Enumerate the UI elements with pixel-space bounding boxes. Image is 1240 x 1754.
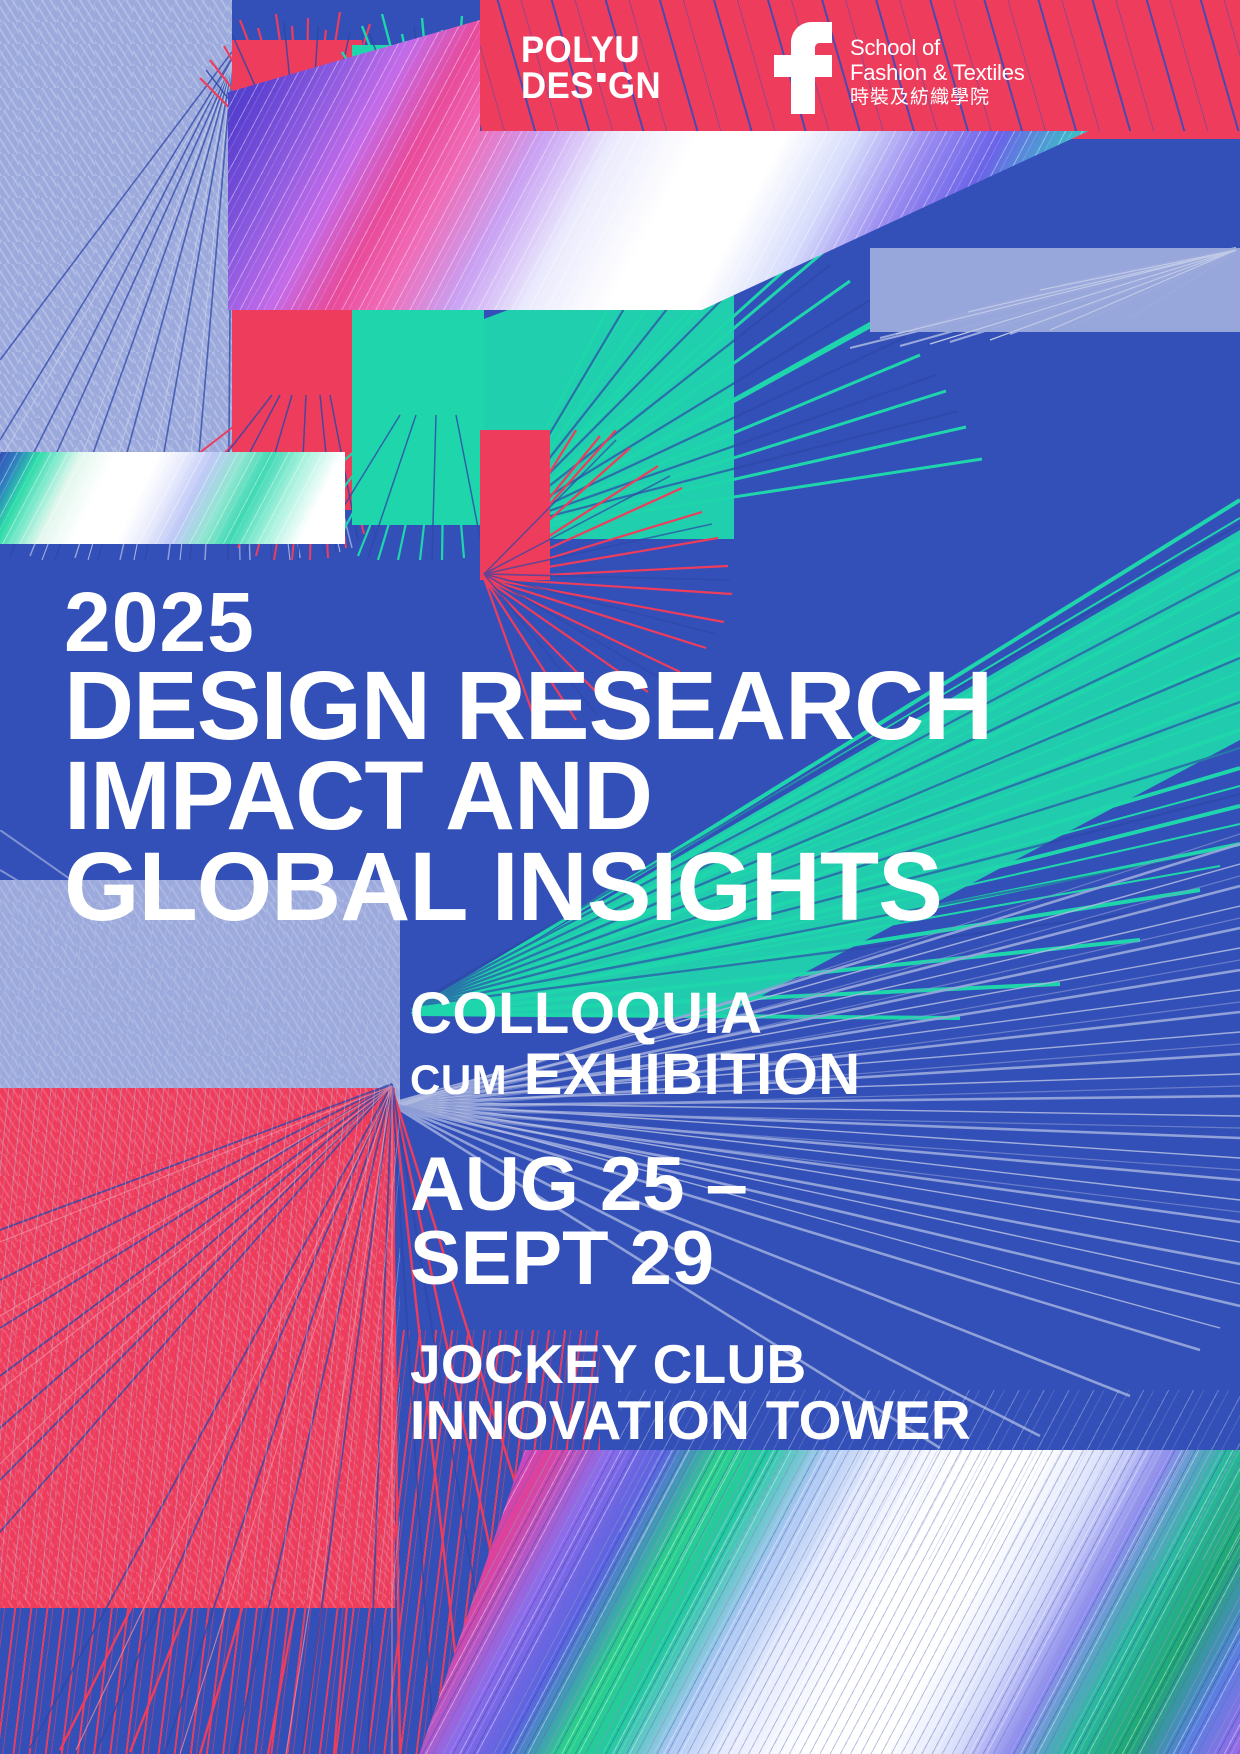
polyu-logo-des: DES — [521, 65, 594, 106]
sft-line2: Fashion & Textiles — [850, 61, 1025, 86]
event-dates: AUG 25 – SEPT 29 — [410, 1148, 1050, 1295]
event-type-colloquia: COLLOQUIA — [410, 985, 1050, 1043]
polyu-design-logo[interactable]: POLYU DESGN — [521, 32, 661, 103]
headline-year: 2025 — [64, 583, 994, 661]
polyu-logo-gn: GN — [608, 65, 661, 106]
polyu-logo-line2: DESGN — [521, 68, 661, 104]
sft-logo-text: School of Fashion & Textiles 時裝及紡織學院 — [850, 22, 1025, 109]
sft-line3-chinese: 時裝及紡織學院 — [850, 87, 1025, 108]
logo-bar: POLYU DESGN School of Fashion & Textiles… — [480, 0, 1240, 131]
sft-line1: School of — [850, 36, 1025, 61]
rain-lavender-left — [0, 900, 400, 1600]
event-details: COLLOQUIA CUM EXHIBITION AUG 25 – SEPT 2… — [410, 985, 1050, 1449]
event-venue: JOCKEY CLUB INNOVATION TOWER — [410, 1336, 1050, 1449]
event-date-line1: AUG 25 – — [410, 1148, 1050, 1222]
school-of-fashion-textiles-logo[interactable]: School of Fashion & Textiles 時裝及紡織學院 — [770, 22, 1025, 114]
venue-line1: JOCKEY CLUB — [410, 1336, 1050, 1393]
iridescent-band-midleft — [0, 452, 345, 544]
event-exhibition-word: EXHIBITION — [524, 1042, 861, 1107]
event-date-line2: SEPT 29 — [410, 1222, 1050, 1296]
event-cum-word: CUM — [410, 1056, 507, 1103]
headline-line2: DESIGN RESEARCH — [64, 661, 994, 751]
headline-line3: IMPACT AND — [64, 751, 994, 841]
stylized-f-icon — [770, 22, 836, 114]
poster-headline: 2025 DESIGN RESEARCH IMPACT AND GLOBAL I… — [64, 583, 994, 932]
venue-line2: INNOVATION TOWER — [410, 1392, 1050, 1449]
poster-canvas: POLYU DESGN School of Fashion & Textiles… — [0, 0, 1240, 1754]
event-type-cum-exhibition: CUM EXHIBITION — [410, 1045, 1050, 1104]
headline-line4: GLOBAL INSIGHTS — [64, 842, 994, 932]
diamond-dot-icon — [597, 73, 605, 82]
